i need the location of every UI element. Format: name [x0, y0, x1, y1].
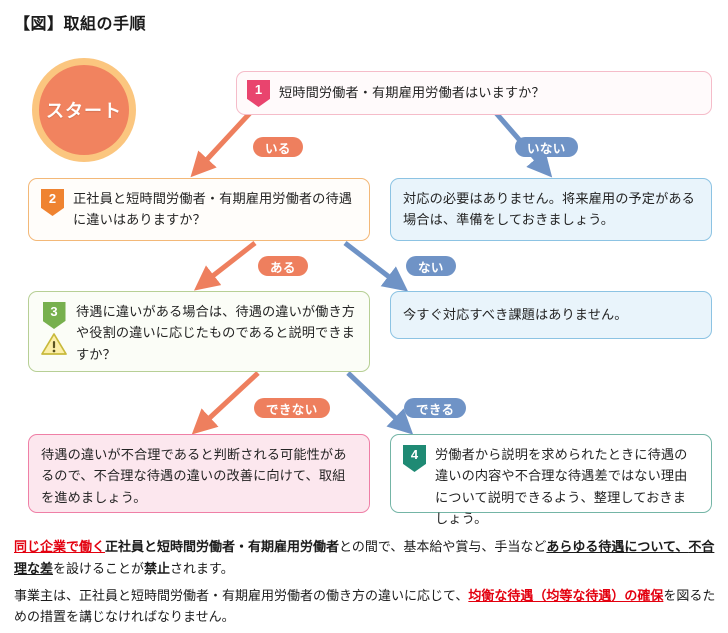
edge-label-no-2: ない: [406, 256, 456, 276]
step-badge-3: 3: [43, 302, 66, 329]
node-result-explainable-text: 労働者から説明を求められたときに待遇の違いの内容や不合理な待遇差ではない理由につ…: [435, 444, 699, 530]
edge-label-yes-2: ある: [258, 256, 308, 276]
edge-label-no-3: できる: [404, 398, 466, 418]
footer-note-1-seg3: との間で、基本給や賞与、手当など: [339, 539, 546, 554]
node-result-explainable: 4 労働者から説明を求められたときに待遇の違いの内容や不合理な待遇差ではない理由…: [390, 434, 712, 513]
arrow-q2-to-a2: [345, 243, 397, 283]
node-question-2: 2 正社員と短時間労働者・有期雇用労働者の待遇に違いはありますか？: [28, 178, 370, 241]
node-answer-no-issue: 今すぐ対応すべき課題はありません。: [390, 291, 712, 339]
node-answer-no-issue-text: 今すぐ対応すべき課題はありません。: [403, 304, 628, 325]
footer-note-2-seg2: 均衡な待遇（均等な待遇）の確保: [468, 588, 663, 603]
node-question-3: 3 待遇に違いがある場合は、待遇の違いが働き方や役割の違いに応じたものであると説…: [28, 291, 370, 372]
flowchart-page: 【図】取組の手順 スタート 1 短時間労働者・有期雇用労働者はいますか？: [0, 0, 728, 620]
step-badge-1: 1: [247, 80, 270, 107]
page-title: 【図】取組の手順: [14, 10, 146, 34]
footer-note-1-seg8: されます。: [170, 561, 234, 576]
badge-with-warning: 3: [41, 301, 67, 356]
arrow-q3-to-r1: [202, 373, 258, 425]
node-answer-no-employees-text: 対応の必要はありません。将来雇用の予定がある場合は、準備をしておきましょう。: [403, 188, 699, 231]
node-question-3-text: 待遇に違いがある場合は、待遇の違いが働き方や役割の違いに応じたものであると説明で…: [76, 301, 357, 365]
step-badge-2: 2: [41, 189, 64, 216]
start-label: スタート: [46, 97, 122, 123]
node-result-unreasonable-text: 待遇の違いが不合理であると判断される可能性があるので、不合理な待遇の違いの改善に…: [41, 444, 357, 508]
edge-label-no-1: いない: [515, 137, 578, 157]
arrow-q1-to-q2: [200, 113, 250, 167]
step-badge-4: 4: [403, 445, 426, 472]
node-question-2-text: 正社員と短時間労働者・有期雇用労働者の待遇に違いはありますか？: [73, 188, 357, 231]
footer-note-1-seg7: 禁止: [144, 561, 170, 576]
node-result-unreasonable: 待遇の違いが不合理であると判断される可能性があるので、不合理な待遇の違いの改善に…: [28, 434, 370, 513]
edge-label-yes-3: できない: [254, 398, 330, 418]
footer-note-1: 同じ企業で働く正社員と短時間労働者・有期雇用労働者との間で、基本給や賞与、手当な…: [14, 536, 720, 580]
arrow-q2-to-q3: [205, 243, 255, 282]
edge-label-yes-1: いる: [253, 137, 303, 157]
footer-note-2-seg1: 事業主は、正社員と短時間労働者・有期雇用労働者の働き方の違いに応じて、: [14, 588, 468, 603]
footer-note-1-seg2: 正社員と短時間労働者・有期雇用労働者: [105, 539, 339, 554]
warning-triangle-icon: [41, 332, 67, 356]
footer-note-1-seg6: を設けることが: [53, 561, 144, 576]
start-node: スタート: [32, 58, 136, 162]
footer-note-1-seg4: あらゆる待遇について、: [546, 539, 688, 554]
footer-notes: 同じ企業で働く正社員と短時間労働者・有期雇用労働者との間で、基本給や賞与、手当な…: [14, 536, 720, 633]
footer-note-1-seg1: 同じ企業で働く: [14, 539, 105, 554]
node-question-1-text: 短時間労働者・有期雇用労働者はいますか？: [279, 82, 545, 103]
footer-note-2: 事業主は、正社員と短時間労働者・有期雇用労働者の働き方の違いに応じて、均衡な待遇…: [14, 585, 720, 629]
node-answer-no-employees: 対応の必要はありません。将来雇用の予定がある場合は、準備をしておきましょう。: [390, 178, 712, 241]
node-question-1: 1 短時間労働者・有期雇用労働者はいますか？: [236, 71, 712, 115]
arrow-q3-to-r2: [348, 373, 403, 425]
